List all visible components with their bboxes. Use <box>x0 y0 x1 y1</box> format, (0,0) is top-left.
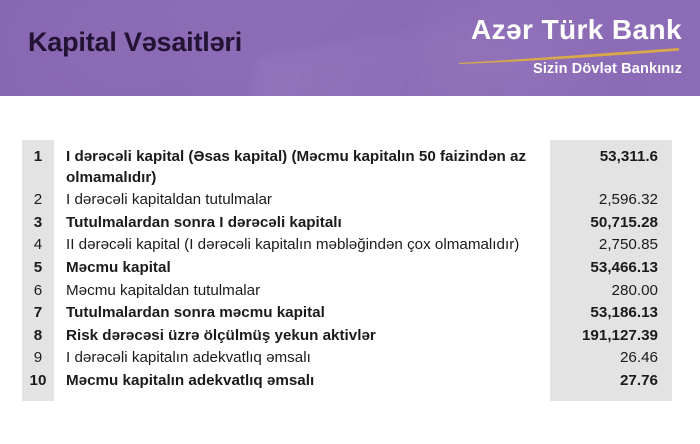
row-label: Məcmu kapitalın adekvatlıq əmsalı <box>54 370 550 401</box>
table-row: 4II dərəcəli kapital (I dərəcəli kapital… <box>22 234 672 257</box>
row-number: 9 <box>22 347 54 370</box>
row-number: 5 <box>22 257 54 280</box>
row-value: 26.46 <box>550 347 672 370</box>
slide-page: Kapital Vəsaitləri Azər Türk Bank Sizin … <box>0 0 700 444</box>
table-body: 1I dərəcəli kapital (Əsas kapital) (Məcm… <box>22 140 672 401</box>
row-value: 191,127.39 <box>550 325 672 348</box>
table-row: 2I dərəcəli kapitaldan tutulmalar2,596.3… <box>22 189 672 212</box>
row-value: 53,186.13 <box>550 302 672 325</box>
row-number: 1 <box>22 140 54 189</box>
table-row: 5Məcmu kapital53,466.13 <box>22 257 672 280</box>
bank-logo: Azər Türk Bank Sizin Dövlət Bankınız <box>452 14 682 84</box>
header-band: Kapital Vəsaitləri Azər Türk Bank Sizin … <box>0 0 700 96</box>
row-value: 2,596.32 <box>550 189 672 212</box>
row-label: I dərəcəli kapitaldan tutulmalar <box>54 189 550 212</box>
page-title: Kapital Vəsaitləri <box>28 27 242 58</box>
table-row: 3Tutulmalardan sonra I dərəcəli kapitalı… <box>22 212 672 235</box>
row-value: 50,715.28 <box>550 212 672 235</box>
row-label: Məcmu kapitaldan tutulmalar <box>54 280 550 303</box>
row-label: Məcmu kapital <box>54 257 550 280</box>
row-value: 280.00 <box>550 280 672 303</box>
row-value: 27.76 <box>550 370 672 401</box>
row-value: 53,466.13 <box>550 257 672 280</box>
table-row: 8Risk dərəcəsi üzrə ölçülmüş yekun aktiv… <box>22 325 672 348</box>
row-value: 53,311.6 <box>550 140 672 189</box>
table-row: 6Məcmu kapitaldan tutulmalar280.00 <box>22 280 672 303</box>
row-label: Tutulmalardan sonra I dərəcəli kapitalı <box>54 212 550 235</box>
row-number: 6 <box>22 280 54 303</box>
row-label: Tutulmalardan sonra məcmu kapital <box>54 302 550 325</box>
row-number: 2 <box>22 189 54 212</box>
table-row: 10Məcmu kapitalın adekvatlıq əmsalı27.76 <box>22 370 672 401</box>
row-number: 7 <box>22 302 54 325</box>
table-row: 9I dərəcəli kapitalın adekvatlıq əmsalı2… <box>22 347 672 370</box>
logo-wordmark: Azər Türk Bank <box>471 14 682 46</box>
row-label: Risk dərəcəsi üzrə ölçülmüş yekun aktivl… <box>54 325 550 348</box>
row-value: 2,750.85 <box>550 234 672 257</box>
row-number: 3 <box>22 212 54 235</box>
row-label: I dərəcəli kapitalın adekvatlıq əmsalı <box>54 347 550 370</box>
logo-tagline: Sizin Dövlət Bankınız <box>533 61 682 77</box>
row-number: 4 <box>22 234 54 257</box>
row-number: 10 <box>22 370 54 401</box>
table-row: 7Tutulmalardan sonra məcmu kapital53,186… <box>22 302 672 325</box>
row-label: II dərəcəli kapital (I dərəcəli kapitalı… <box>54 234 550 257</box>
row-label: I dərəcəli kapital (Əsas kapital) (Məcmu… <box>54 140 550 189</box>
capital-funds-table: 1I dərəcəli kapital (Əsas kapital) (Məcm… <box>22 140 672 401</box>
table-row: 1I dərəcəli kapital (Əsas kapital) (Məcm… <box>22 140 672 189</box>
row-number: 8 <box>22 325 54 348</box>
